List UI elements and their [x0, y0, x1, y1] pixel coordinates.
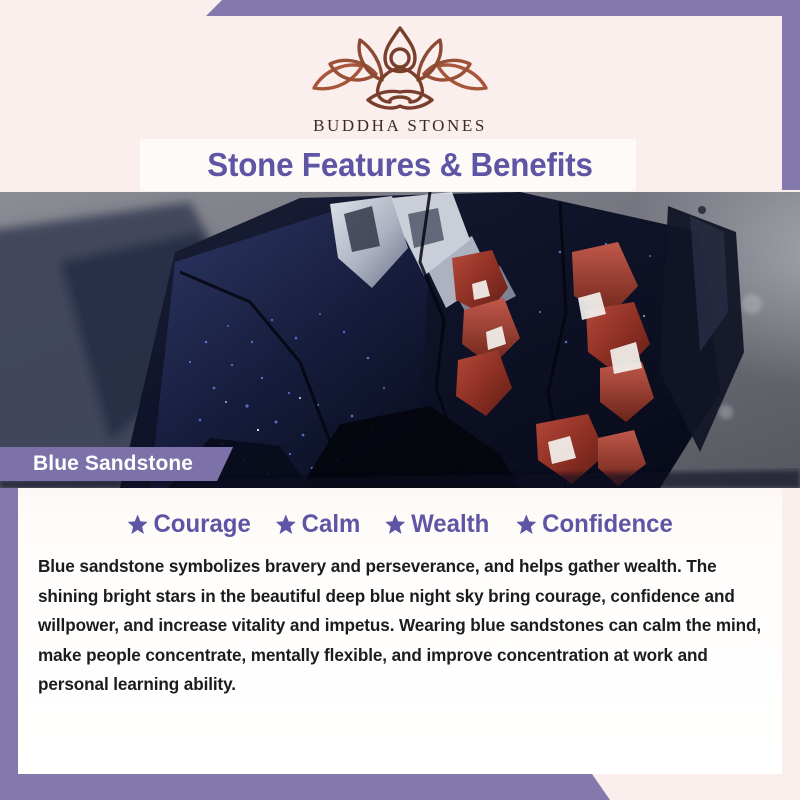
stone-description: Blue sandstone symbolizes bravery and pe…: [38, 552, 765, 700]
benefit-item-wealth: Wealth: [385, 510, 490, 539]
content-card: Courage Calm Wea: [18, 488, 782, 774]
stone-info-card: BUDDHA STONES Stone Features & Benefits: [0, 0, 800, 800]
decorative-right-border: [782, 0, 800, 190]
benefit-item-calm: Calm: [275, 510, 361, 539]
lotus-meditation-icon: [0, 22, 800, 114]
brand-name: BUDDHA STONES: [0, 116, 800, 136]
star-icon: [126, 513, 148, 536]
decorative-bottom-border: [0, 774, 800, 800]
star-icon: [275, 513, 297, 536]
decorative-left-border: [0, 488, 18, 774]
benefit-label: Wealth: [412, 510, 490, 539]
page-title: Stone Features & Benefits: [20, 140, 780, 190]
stone-name-badge: Blue Sandstone: [0, 447, 233, 481]
benefit-label: Courage: [153, 510, 250, 539]
star-icon: [385, 513, 407, 536]
content-card-background: Courage Calm Wea: [18, 488, 782, 774]
star-icon: [515, 513, 537, 536]
benefit-item-courage: Courage: [126, 510, 250, 539]
benefit-label: Confidence: [542, 510, 673, 539]
benefit-label: Calm: [302, 510, 361, 539]
brand-logo: BUDDHA STONES: [0, 22, 800, 136]
benefits-list: Courage Calm Wea: [18, 510, 782, 539]
benefit-item-confidence: Confidence: [515, 510, 673, 539]
stone-photo: [0, 192, 800, 488]
